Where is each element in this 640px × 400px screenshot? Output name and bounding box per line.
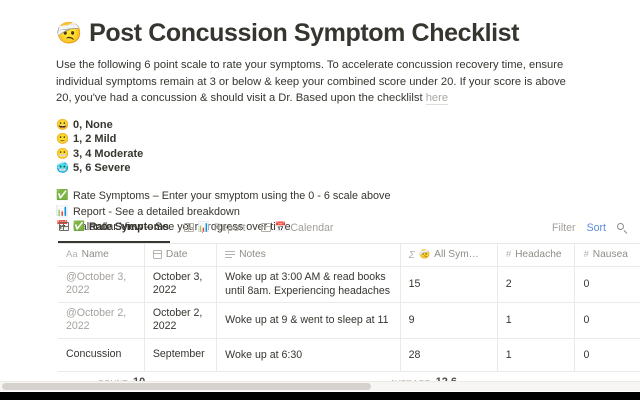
cell-all-symptoms[interactable]: 28: [400, 338, 497, 371]
scale-item-label: 3, 4 Moderate: [73, 148, 143, 160]
calendar-icon: 📅: [275, 223, 287, 233]
column-header-notes[interactable]: Notes: [217, 244, 400, 266]
tab-report[interactable]: 📊 Report: [183, 217, 247, 243]
legend-item-rate-symptoms: ✅ Rate Symptoms – Enter your smyptom usi…: [56, 189, 596, 205]
column-header-label: All Sym…: [434, 249, 479, 260]
column-header-date[interactable]: Date: [144, 244, 216, 266]
intro-paragraph-text: Use the following 6 point scale to rate …: [56, 59, 566, 104]
scale-item-label: 5, 6 Severe: [73, 162, 131, 174]
window-bottom-bar: [0, 392, 640, 400]
cell-headache[interactable]: 2: [497, 266, 575, 302]
cell-name[interactable]: @October 3, 2022: [58, 266, 144, 302]
tab-label: Report: [214, 222, 246, 234]
database-table: Aa Name Date: [58, 244, 640, 372]
table-row[interactable]: Concussion September Woke up at 6:30 28 …: [58, 338, 640, 371]
smiley-mild-icon: 🙂: [56, 134, 68, 145]
rating-scale-list: 😀 0, None 🙂 1, 2 Mild 😬 3, 4 Moderate 🥶 …: [56, 118, 596, 176]
table-row[interactable]: @October 3, 2022 October 3, 2022 Woke up…: [58, 266, 640, 302]
head-bandage-icon: 🤕: [56, 23, 82, 44]
table-row[interactable]: @October 2, 2022 October 2, 2022 Woke up…: [58, 302, 640, 338]
column-header-label: Date: [166, 249, 188, 260]
column-header-label: Headache: [515, 249, 561, 260]
aa-text-icon: Aa: [66, 250, 78, 260]
tab-label: Rate Symptoms: [89, 221, 169, 233]
scale-item-none: 😀 0, None: [56, 118, 596, 133]
column-header-nausea[interactable]: # Nausea: [575, 244, 640, 266]
cell-notes[interactable]: Woke up at 6:30: [217, 338, 400, 371]
cell-headache[interactable]: 1: [497, 338, 575, 371]
sort-button[interactable]: Sort: [587, 222, 606, 234]
scale-item-label: 1, 2 Mild: [73, 133, 116, 145]
column-header-label: Name: [82, 249, 109, 260]
grid-icon: [59, 222, 69, 231]
scale-item-moderate: 😬 3, 4 Moderate: [56, 147, 596, 162]
column-header-label: Notes: [239, 249, 266, 260]
calendar-icon: [153, 250, 162, 259]
tab-calendar[interactable]: 📅 Calendar: [260, 217, 335, 243]
head-bandage-icon: 🤕: [419, 250, 430, 259]
intro-paragraph: Use the following 6 point scale to rate …: [56, 57, 576, 107]
bar-chart-icon: 📊: [198, 223, 210, 233]
calendar-view-icon: [261, 223, 271, 232]
cell-date[interactable]: October 3, 2022: [144, 266, 216, 302]
horizontal-scrollbar[interactable]: [0, 381, 640, 391]
document-header: 🤕 Post Concussion Symptom Checklist Use …: [56, 16, 596, 235]
scale-item-mild: 🙂 1, 2 Mild: [56, 132, 596, 147]
column-header-all-symptoms[interactable]: Σ 🤕 All Sym…: [400, 244, 497, 266]
check-mark-icon: ✅: [56, 191, 68, 201]
number-hash-icon: #: [583, 250, 588, 260]
cell-nausea[interactable]: 0: [575, 266, 640, 302]
legend-item-label: Rate Symptoms – Enter your smyptom using…: [73, 190, 390, 202]
text-lines-icon: [225, 251, 235, 259]
database-view-tabs: ✅ Rate Symptoms 📊 Report 📅 Calendar: [58, 216, 334, 243]
here-link[interactable]: here: [426, 92, 448, 105]
database-toolbar: ✅ Rate Symptoms 📊 Report 📅 Calendar Filt…: [58, 216, 628, 243]
horizontal-scrollbar-thumb[interactable]: [2, 383, 371, 390]
cell-notes[interactable]: Woke up at 3:00 AM & read books until 8a…: [217, 266, 400, 302]
cell-name[interactable]: @October 2, 2022: [58, 302, 144, 338]
search-icon[interactable]: [617, 223, 628, 234]
smiley-none-icon: 😀: [56, 120, 68, 131]
number-hash-icon: #: [506, 250, 511, 260]
cell-all-symptoms[interactable]: 15: [400, 266, 497, 302]
database-table-wrapper: Aa Name Date: [58, 243, 640, 372]
tab-rate-symptoms[interactable]: ✅ Rate Symptoms: [58, 217, 170, 243]
cell-date[interactable]: October 2, 2022: [144, 302, 216, 338]
cell-nausea[interactable]: 0: [575, 302, 640, 338]
database-toolbar-actions: Filter Sort: [552, 222, 628, 237]
cell-name[interactable]: Concussion: [58, 338, 144, 371]
database-block: ✅ Rate Symptoms 📊 Report 📅 Calendar Filt…: [0, 216, 640, 392]
cell-nausea[interactable]: 0: [575, 338, 640, 371]
scale-item-severe: 🥶 5, 6 Severe: [56, 161, 596, 176]
scale-item-label: 0, None: [73, 119, 113, 131]
cell-notes[interactable]: Woke up at 9 & went to sleep at 11: [217, 302, 400, 338]
smiley-severe-icon: 🥶: [56, 163, 68, 174]
smiley-moderate-icon: 😬: [56, 149, 68, 160]
grid-icon: [184, 223, 194, 232]
column-header-name[interactable]: Aa Name: [58, 244, 144, 266]
column-header-label: Nausea: [593, 249, 628, 260]
cell-date[interactable]: September: [144, 338, 216, 371]
page-root: 🤕 Post Concussion Symptom Checklist Use …: [0, 0, 640, 400]
check-mark-icon: ✅: [73, 222, 85, 232]
tab-label: Calendar: [290, 222, 333, 234]
table-header-row: Aa Name Date: [58, 244, 640, 266]
sigma-icon: Σ: [409, 250, 415, 261]
filter-button[interactable]: Filter: [552, 222, 576, 234]
cell-all-symptoms[interactable]: 9: [400, 302, 497, 338]
column-header-headache[interactable]: # Headache: [497, 244, 575, 266]
cell-headache[interactable]: 1: [497, 302, 575, 338]
page-title-text: Post Concussion Symptom Checklist: [89, 19, 519, 48]
page-title: 🤕 Post Concussion Symptom Checklist: [56, 16, 596, 50]
